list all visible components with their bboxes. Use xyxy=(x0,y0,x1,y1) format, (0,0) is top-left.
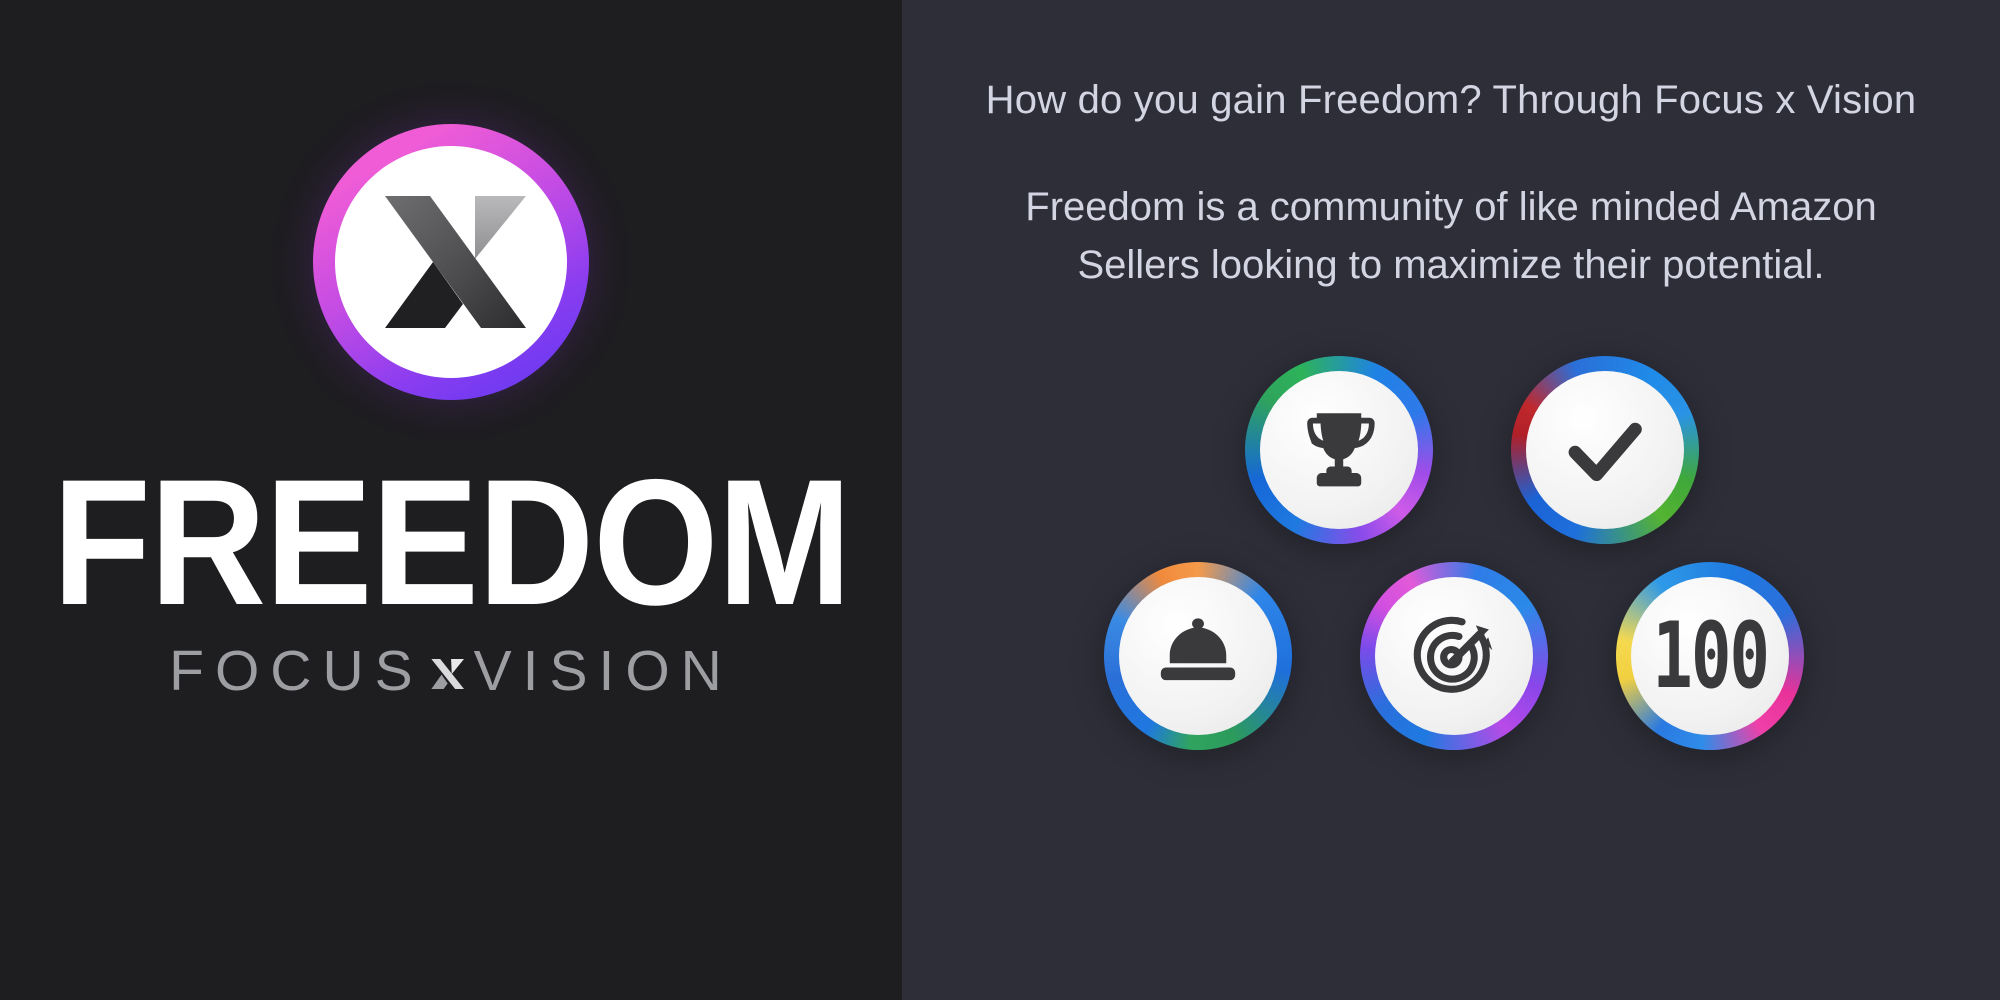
badge-row-top xyxy=(1245,356,1699,544)
headline-text: How do you gain Freedom? Through Focus x… xyxy=(986,78,1917,123)
badge-hundred[interactable]: 100 xyxy=(1616,562,1804,750)
freedom-x-logo-icon xyxy=(313,124,589,400)
badge-trophy[interactable] xyxy=(1245,356,1433,544)
tagline-vision: VISION xyxy=(474,643,733,700)
brand-wordmark: FREEDOM xyxy=(52,466,850,620)
subcopy-text: Freedom is a community of like minded Am… xyxy=(1021,179,1881,294)
badge-row-bottom: 100 xyxy=(1104,562,1804,750)
brand-panel: FREEDOM FOCUS VISION xyxy=(0,0,902,1000)
service-bell-icon xyxy=(1152,610,1244,702)
badge-grid: 100 xyxy=(951,356,1951,750)
badge-service-bell[interactable] xyxy=(1104,562,1292,750)
target-dart-icon xyxy=(1408,610,1500,702)
content-panel: How do you gain Freedom? Through Focus x… xyxy=(902,0,2000,1000)
x-mark-icon xyxy=(430,653,464,695)
checkmark-icon xyxy=(1559,404,1651,496)
tagline-focus: FOCUS xyxy=(169,643,424,700)
slide-canvas: FREEDOM FOCUS VISION How do you gain Fre… xyxy=(0,0,2000,1000)
badge-target[interactable] xyxy=(1360,562,1548,750)
logo-x-glyph xyxy=(376,187,526,337)
brand-tagline: FOCUS VISION xyxy=(169,643,733,700)
hundred-points-icon: 100 xyxy=(1652,611,1768,702)
trophy-icon xyxy=(1293,404,1385,496)
badge-checkmark[interactable] xyxy=(1511,356,1699,544)
